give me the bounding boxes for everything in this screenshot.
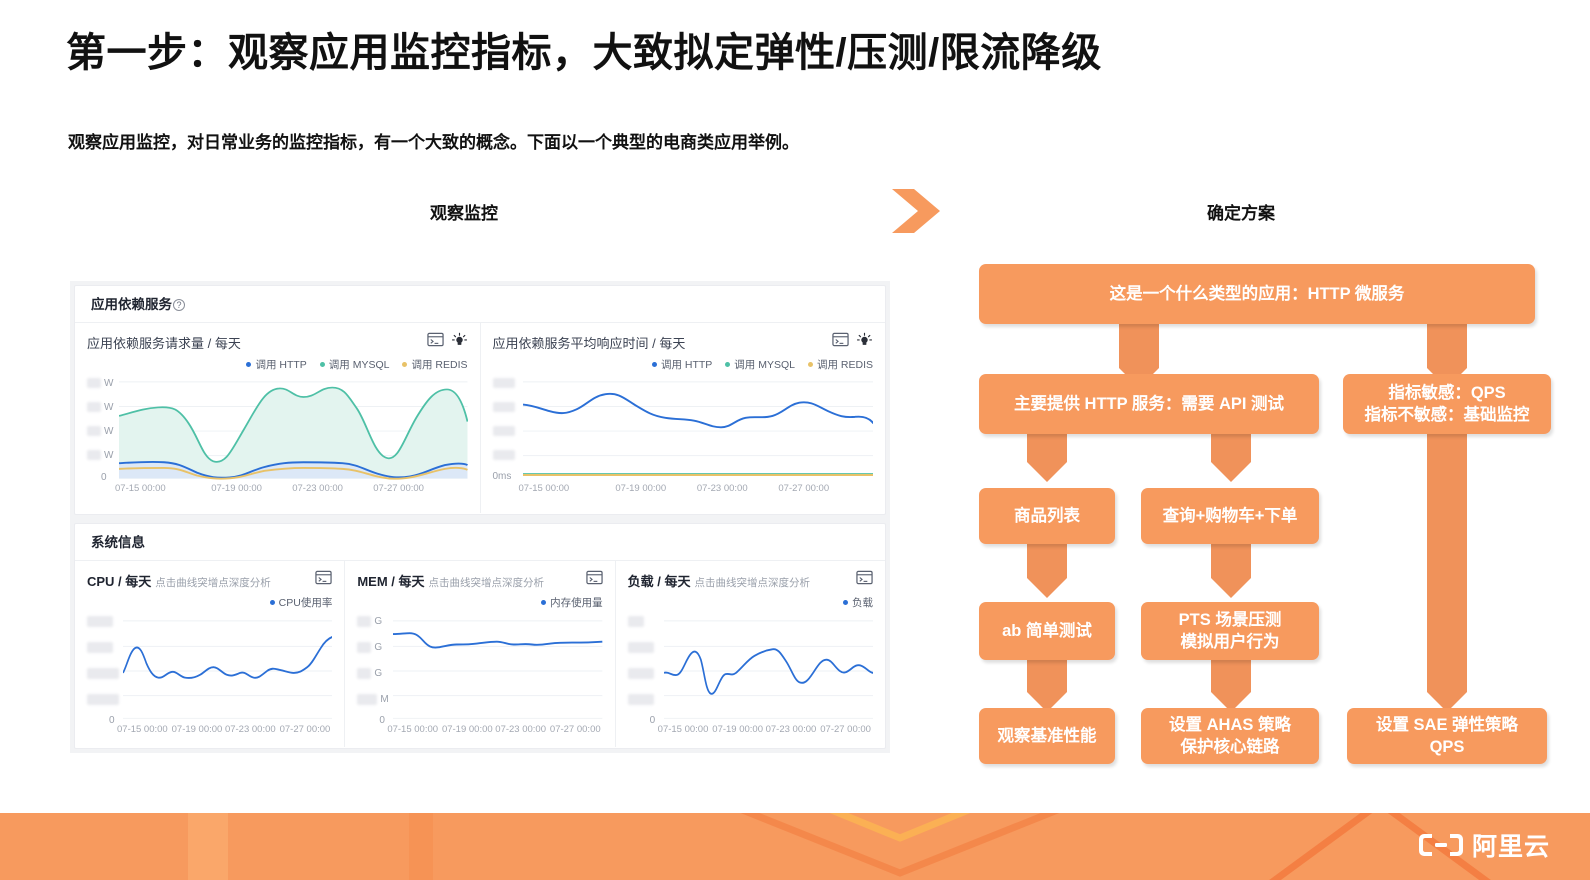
x-tick: 07-15 00:00: [117, 724, 170, 735]
chart-title-response-time: 应用依赖服务平均响应时间 / 每天: [493, 333, 874, 352]
flow-box-http-service[interactable]: 主要提供 HTTP 服务：需要 API 测试: [979, 374, 1319, 434]
chart-icons-response-time: [832, 332, 873, 347]
window-icon[interactable]: [856, 570, 873, 585]
card-title-app-dependencies: 应用依赖服务?: [75, 286, 885, 323]
flow-box-root[interactable]: 这是一个什么类型的应用：HTTP 微服务: [979, 264, 1535, 324]
x-tick: 07-15 00:00: [387, 724, 440, 735]
x-tick: 07-27 00:00: [763, 483, 845, 494]
x-tick: 07-15 00:00: [519, 483, 601, 494]
page-subtitle: 观察应用监控，对日常业务的监控指标，有一个大致的概念。下面以一个典型的电商类应用…: [68, 128, 799, 153]
flow-box-baseline-performance[interactable]: 观察基准性能: [979, 708, 1115, 764]
alibaba-cloud-mark-icon: [1419, 832, 1463, 858]
chart-icons-load: [856, 570, 873, 585]
card-title-system-info: 系统信息: [75, 524, 885, 561]
x-tick: 07-27 00:00: [358, 483, 439, 494]
page-title: 第一步：观察应用监控指标，大致拟定弹性/压测/限流降级: [66, 20, 1102, 78]
window-icon[interactable]: [427, 332, 444, 347]
legend-item: 调用 REDIS: [402, 357, 467, 372]
chart-plot-mem: G G G M 0: [357, 614, 602, 734]
chart-icons-request-volume: [427, 332, 468, 347]
chart-title-load: 负载 / 每天点击曲线突增点深度分析: [628, 571, 873, 590]
card-app-dependencies: 应用依赖服务? 应用依赖服务请求量 / 每天: [74, 285, 886, 515]
brand-logo: 阿里云: [1419, 827, 1550, 863]
chevron-right-icon: [888, 186, 948, 236]
x-tick: 07-23 00:00: [277, 483, 358, 494]
legend-item: 调用 HTTP: [652, 357, 712, 372]
flow-box-metrics-sensitivity[interactable]: 指标敏感：QPS 指标不敏感：基础监控: [1343, 374, 1551, 434]
x-tick: 07-15 00:00: [115, 483, 196, 494]
chart-legend-mem: 内存使用量: [357, 595, 602, 610]
banner-decoration: [0, 813, 1590, 880]
legend-item: 调用 MYSQL: [320, 357, 390, 372]
x-tick: 07-23 00:00: [494, 724, 547, 735]
flow-box-query-cart-order[interactable]: 查询+购物车+下单: [1141, 488, 1319, 544]
monitoring-dashboard: 应用依赖服务? 应用依赖服务请求量 / 每天: [70, 281, 890, 753]
chart-plot-cpu: 0 07-15 00:00: [87, 614, 332, 734]
chart-pane-mem: MEM / 每天点击曲线突增点深度分析 内存使用量: [345, 561, 615, 747]
chart-plot-request-volume: W W W W 0: [87, 376, 468, 494]
chart-title-mem: MEM / 每天点击曲线突增点深度分析: [357, 571, 602, 590]
chart-legend-cpu: CPU使用率: [87, 595, 332, 610]
chart-legend-load: 负载: [628, 595, 873, 610]
chart-title-request-volume: 应用依赖服务请求量 / 每天: [87, 333, 468, 352]
x-tick: 07-27 00:00: [818, 724, 871, 735]
slide-root: 第一步：观察应用监控指标，大致拟定弹性/压测/限流降级 观察应用监控，对日常业务…: [0, 0, 1590, 880]
window-icon[interactable]: [586, 570, 603, 585]
legend-item: 内存使用量: [541, 595, 603, 610]
legend-item: 调用 HTTP: [246, 357, 306, 372]
chart-icons-mem: [586, 570, 603, 585]
flow-box-goods-list[interactable]: 商品列表: [979, 488, 1115, 544]
chart-icons-cpu: [315, 570, 332, 585]
x-tick: 07-23 00:00: [764, 724, 817, 735]
chart-title-cpu: CPU / 每天点击曲线突增点深度分析: [87, 571, 332, 590]
window-icon[interactable]: [832, 332, 849, 347]
footer-banner: 阿里云: [0, 813, 1590, 880]
x-tick: 07-19 00:00: [170, 724, 223, 735]
flow-box-ahas-policy[interactable]: 设置 AHAS 策略 保护核心链路: [1141, 708, 1319, 764]
chart-pane-load: 负载 / 每天点击曲线突增点深度分析 负载: [616, 561, 885, 747]
x-tick: 07-15 00:00: [658, 724, 711, 735]
x-tick: 07-19 00:00: [711, 724, 764, 735]
x-tick: 07-19 00:00: [441, 724, 494, 735]
x-tick: 07-27 00:00: [547, 724, 600, 735]
section-caption-monitoring: 观察监控: [430, 199, 498, 224]
section-caption-plan: 确定方案: [1207, 199, 1275, 224]
x-tick: 07-23 00:00: [682, 483, 764, 494]
x-tick: 07-23 00:00: [224, 724, 277, 735]
card-system-info: 系统信息 CPU / 每天点击曲线突增点深度分析: [74, 523, 886, 749]
chart-legend-request-volume: 调用 HTTP 调用 MYSQL 调用 REDIS: [87, 357, 468, 372]
x-tick: 07-27 00:00: [277, 724, 330, 735]
chart-pane-request-volume: 应用依赖服务请求量 / 每天: [75, 323, 481, 513]
flow-box-sae-policy[interactable]: 设置 SAE 弹性策略 QPS: [1347, 708, 1547, 764]
brand-name: 阿里云: [1472, 827, 1550, 863]
flow-box-pts-test[interactable]: PTS 场景压测 模拟用户行为: [1141, 602, 1319, 660]
legend-item: 负载: [843, 595, 873, 610]
help-icon[interactable]: ?: [173, 299, 185, 311]
legend-item: CPU使用率: [270, 595, 333, 610]
chart-plot-load: 0 07-15 00:00: [628, 614, 873, 734]
flow-box-ab-test[interactable]: ab 简单测试: [979, 602, 1115, 660]
x-tick: 07-19 00:00: [196, 483, 277, 494]
chart-plot-response-time: 0ms: [493, 376, 874, 494]
solution-flowchart: 这是一个什么类型的应用：HTTP 微服务 主要提供 HTTP 服务：需要 API…: [975, 260, 1555, 765]
legend-item: 调用 MYSQL: [725, 357, 795, 372]
chart-pane-response-time: 应用依赖服务平均响应时间 / 每天: [481, 323, 886, 513]
insight-bulb-icon[interactable]: [856, 332, 873, 347]
insight-bulb-icon[interactable]: [451, 332, 468, 347]
chart-pane-cpu: CPU / 每天点击曲线突增点深度分析 CPU使用率: [75, 561, 345, 747]
window-icon[interactable]: [315, 570, 332, 585]
legend-item: 调用 REDIS: [808, 357, 873, 372]
card-title-text: 应用依赖服务: [91, 297, 172, 312]
chart-legend-response-time: 调用 HTTP 调用 MYSQL 调用 REDIS: [493, 357, 874, 372]
x-tick: 07-19 00:00: [600, 483, 682, 494]
